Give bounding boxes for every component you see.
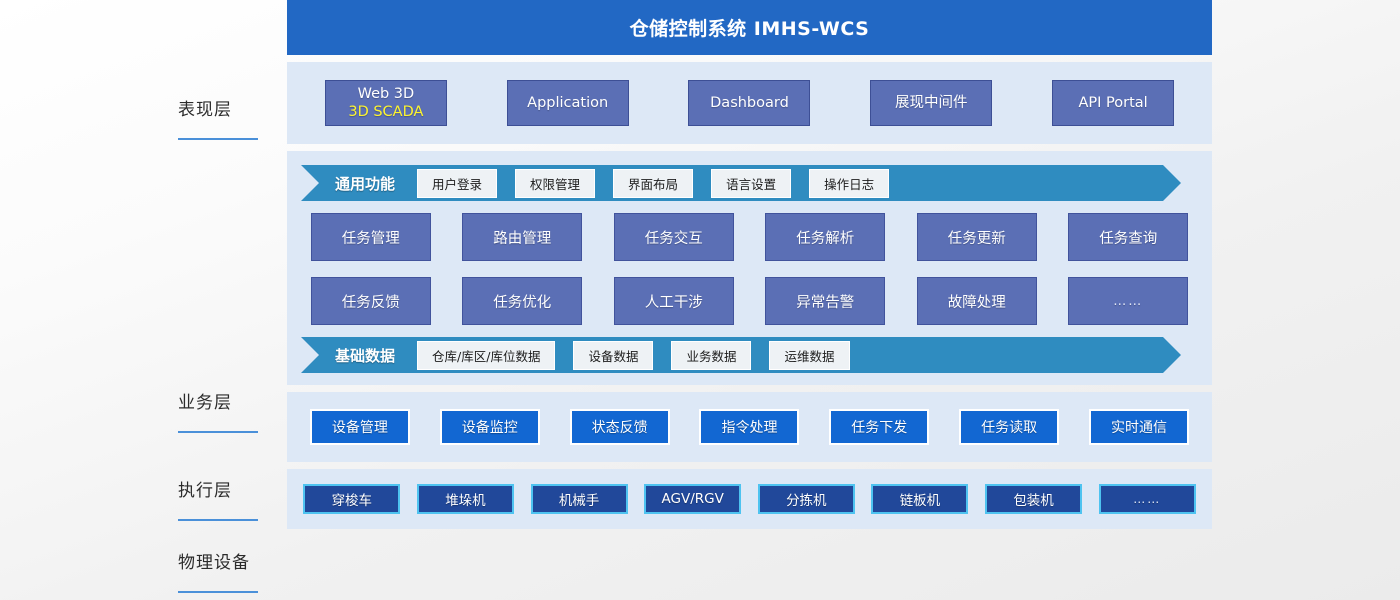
- physical-device-box[interactable]: 分拣机: [758, 484, 855, 514]
- task-box[interactable]: 任务优化: [462, 277, 582, 325]
- execution-box[interactable]: 设备管理: [310, 409, 410, 445]
- execution-row: 设备管理设备监控状态反馈指令处理任务下发任务读取实时通信: [295, 409, 1204, 445]
- presentation-box-sublabel: 3D SCADA: [348, 103, 423, 121]
- task-row-2: 任务反馈任务优化人工干涉异常告警故障处理……: [295, 277, 1204, 325]
- presentation-box[interactable]: Web 3D3D SCADA: [325, 80, 447, 126]
- layer-label-presentation: 表现层: [178, 95, 288, 140]
- layer-label-rule: [178, 138, 258, 140]
- page-title: 仓储控制系统 IMHS-WCS: [630, 14, 870, 41]
- presentation-box[interactable]: Dashboard: [688, 80, 810, 126]
- business-layer-panel: 通用功能 用户登录权限管理界面布局语言设置操作日志 任务管理路由管理任务交互任务…: [287, 151, 1212, 385]
- layer-label-text: 物理设备: [178, 548, 288, 573]
- physical-device-panel: 穿梭车堆垛机机械手AGV/RGV分拣机链板机包装机……: [287, 469, 1212, 529]
- physical-device-box[interactable]: 堆垛机: [417, 484, 514, 514]
- layer-label-rule: [178, 431, 258, 433]
- architecture-diagram: 表现层 业务层 执行层 物理设备 仓储控制系统 IMHS-WCS Web 3D3…: [0, 0, 1400, 600]
- layer-label-business: 业务层: [178, 388, 288, 433]
- layer-label-rule: [178, 591, 258, 593]
- common-function-chip[interactable]: 用户登录: [417, 169, 497, 198]
- task-box[interactable]: 任务更新: [917, 213, 1037, 261]
- layer-label-rule: [178, 519, 258, 521]
- task-box[interactable]: 异常告警: [765, 277, 885, 325]
- basic-data-chip[interactable]: 运维数据: [769, 341, 849, 370]
- basic-data-chip[interactable]: 仓库/库区/库位数据: [417, 341, 555, 370]
- task-box[interactable]: 路由管理: [462, 213, 582, 261]
- basic-data-chip[interactable]: 设备数据: [573, 341, 653, 370]
- task-row-1: 任务管理路由管理任务交互任务解析任务更新任务查询: [295, 213, 1204, 261]
- presentation-box[interactable]: 展现中间件: [870, 80, 992, 126]
- layer-label-text: 业务层: [178, 388, 288, 413]
- physical-device-box[interactable]: AGV/RGV: [644, 484, 741, 514]
- presentation-box[interactable]: Application: [507, 80, 629, 126]
- common-function-chip[interactable]: 权限管理: [515, 169, 595, 198]
- presentation-box-label: Dashboard: [710, 94, 789, 112]
- common-function-chip[interactable]: 语言设置: [711, 169, 791, 198]
- common-function-band-title: 通用功能: [335, 173, 395, 194]
- basic-data-chip[interactable]: 业务数据: [671, 341, 751, 370]
- task-box[interactable]: 故障处理: [917, 277, 1037, 325]
- system-title-bar: 仓储控制系统 IMHS-WCS: [287, 0, 1212, 55]
- basic-data-band-title: 基础数据: [335, 345, 395, 366]
- physical-device-box[interactable]: 链板机: [871, 484, 968, 514]
- layer-label-execution: 执行层: [178, 476, 288, 521]
- task-box[interactable]: 任务交互: [614, 213, 734, 261]
- diagram-stack: 仓储控制系统 IMHS-WCS Web 3D3D SCADAApplicatio…: [287, 0, 1212, 529]
- layer-label-text: 表现层: [178, 95, 288, 120]
- common-function-band: 通用功能 用户登录权限管理界面布局语言设置操作日志: [301, 165, 1181, 201]
- presentation-box-label: 展现中间件: [895, 94, 968, 112]
- layer-label-physical: 物理设备: [178, 548, 288, 593]
- basic-data-band: 基础数据 仓库/库区/库位数据设备数据业务数据运维数据: [301, 337, 1181, 373]
- execution-layer-panel: 设备管理设备监控状态反馈指令处理任务下发任务读取实时通信: [287, 392, 1212, 462]
- common-function-chip[interactable]: 操作日志: [809, 169, 889, 198]
- execution-box[interactable]: 指令处理: [699, 409, 799, 445]
- common-function-chip[interactable]: 界面布局: [613, 169, 693, 198]
- layer-label-text: 执行层: [178, 476, 288, 501]
- task-box[interactable]: 任务管理: [311, 213, 431, 261]
- presentation-row: Web 3D3D SCADAApplicationDashboard展现中间件A…: [295, 80, 1204, 126]
- physical-row: 穿梭车堆垛机机械手AGV/RGV分拣机链板机包装机……: [295, 484, 1204, 514]
- task-box[interactable]: 任务解析: [765, 213, 885, 261]
- presentation-box-label: Application: [527, 94, 608, 112]
- presentation-box-label: Web 3D: [358, 85, 415, 103]
- physical-device-box[interactable]: 包装机: [985, 484, 1082, 514]
- execution-box[interactable]: 状态反馈: [570, 409, 670, 445]
- physical-device-box[interactable]: ……: [1099, 484, 1196, 514]
- task-box[interactable]: 人工干涉: [614, 277, 734, 325]
- layer-label-column: 表现层 业务层 执行层 物理设备: [0, 0, 287, 600]
- presentation-box[interactable]: API Portal: [1052, 80, 1174, 126]
- task-box[interactable]: ……: [1068, 277, 1188, 325]
- presentation-layer-panel: Web 3D3D SCADAApplicationDashboard展现中间件A…: [287, 62, 1212, 144]
- physical-device-box[interactable]: 机械手: [531, 484, 628, 514]
- execution-box[interactable]: 任务读取: [959, 409, 1059, 445]
- physical-device-box[interactable]: 穿梭车: [303, 484, 400, 514]
- common-function-chips: 用户登录权限管理界面布局语言设置操作日志: [417, 169, 889, 198]
- execution-box[interactable]: 任务下发: [829, 409, 929, 445]
- presentation-box-label: API Portal: [1078, 94, 1147, 112]
- task-box[interactable]: 任务反馈: [311, 277, 431, 325]
- execution-box[interactable]: 设备监控: [440, 409, 540, 445]
- execution-box[interactable]: 实时通信: [1089, 409, 1189, 445]
- task-box[interactable]: 任务查询: [1068, 213, 1188, 261]
- basic-data-chips: 仓库/库区/库位数据设备数据业务数据运维数据: [417, 341, 849, 370]
